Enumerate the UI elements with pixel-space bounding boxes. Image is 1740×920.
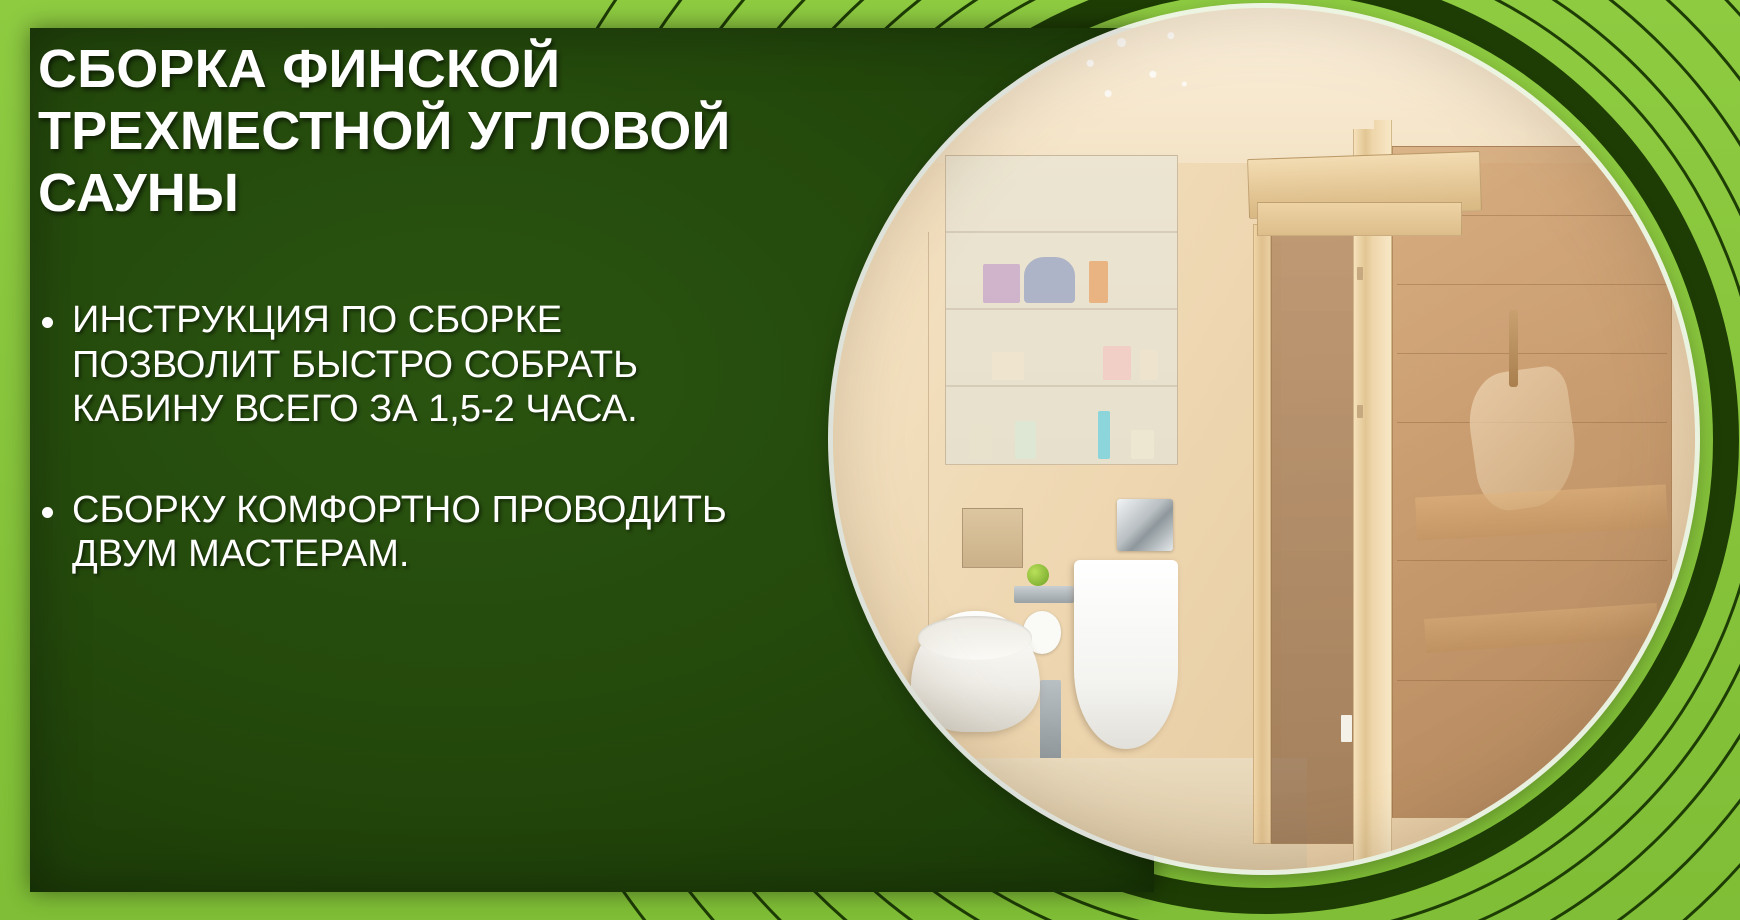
cabinet-shelf — [946, 310, 1177, 387]
bullet-list: ИНСТРУКЦИЯ ПО СБОРКЕ ПОЗВОЛИТ БЫСТРО СОБ… — [38, 298, 798, 576]
photo-image — [833, 8, 1695, 870]
bottle — [1015, 421, 1036, 460]
sauna-plank — [1397, 353, 1667, 354]
list-item: СБОРКУ КОМФОРТНО ПРОВОДИТЬ ДВУМ МАСТЕРАМ… — [38, 488, 768, 577]
bottle — [992, 352, 1024, 381]
toilet — [911, 611, 1040, 732]
door-hinge-icon — [1357, 267, 1363, 281]
bottle — [1098, 411, 1110, 459]
flush-plate-icon — [1117, 499, 1173, 551]
urinal — [1074, 560, 1177, 750]
cabinet-shelf — [946, 156, 1177, 233]
chandelier-icon — [1023, 8, 1247, 146]
sauna-plank — [1397, 680, 1667, 681]
bottle — [1140, 350, 1158, 380]
door-handle-icon — [1509, 310, 1518, 388]
sauna-door-mullion — [1353, 129, 1376, 870]
cabinet-shelf — [946, 233, 1177, 310]
paper-holder-bracket — [1014, 586, 1074, 603]
bottle — [1131, 430, 1154, 459]
door-hinge-icon — [1357, 405, 1363, 419]
bullet-dot-icon — [42, 507, 53, 518]
list-item-label: СБОРКУ КОМФОРТНО ПРОВОДИТЬ ДВУМ МАСТЕРАМ… — [72, 489, 727, 575]
sauna-lintel — [1257, 202, 1462, 236]
bottle — [969, 425, 992, 459]
bottle — [1103, 346, 1131, 381]
glass-cabinet — [945, 155, 1178, 465]
page-title: СБОРКА ФИНСКОЙ ТРЕХМЕСТНОЙ УГЛОВОЙ САУНЫ — [38, 38, 758, 224]
photo-circle — [833, 8, 1695, 870]
bullet-dot-icon — [42, 317, 53, 328]
text-content: СБОРКА ФИНСКОЙ ТРЕХМЕСТНОЙ УГЛОВОЙ САУНЫ… — [38, 38, 798, 577]
sauna-plank — [1397, 284, 1667, 285]
slide-root: СБОРКА ФИНСКОЙ ТРЕХМЕСТНОЙ УГЛОВОЙ САУНЫ… — [0, 0, 1740, 920]
wall-fixture-box — [962, 508, 1022, 568]
list-item: ИНСТРУКЦИЯ ПО СБОРКЕ ПОЗВОЛИТ БЫСТРО СОБ… — [38, 298, 768, 431]
toilet-brush — [1040, 680, 1061, 766]
bottle — [1089, 261, 1107, 303]
sauna-cabin — [1230, 8, 1695, 870]
door-latch-icon — [1341, 715, 1352, 743]
list-item-label: ИНСТРУКЦИЯ ПО СБОРКЕ ПОЗВОЛИТ БЫСТРО СОБ… — [72, 299, 638, 430]
sauna-plank — [1397, 560, 1667, 561]
photo-scene — [833, 8, 1695, 870]
sauna-door-glass — [1271, 224, 1355, 845]
bottle — [1024, 257, 1075, 304]
sauna-door-frame — [1253, 224, 1272, 845]
bottle — [983, 264, 1020, 303]
cabinet-shelf — [946, 387, 1177, 464]
